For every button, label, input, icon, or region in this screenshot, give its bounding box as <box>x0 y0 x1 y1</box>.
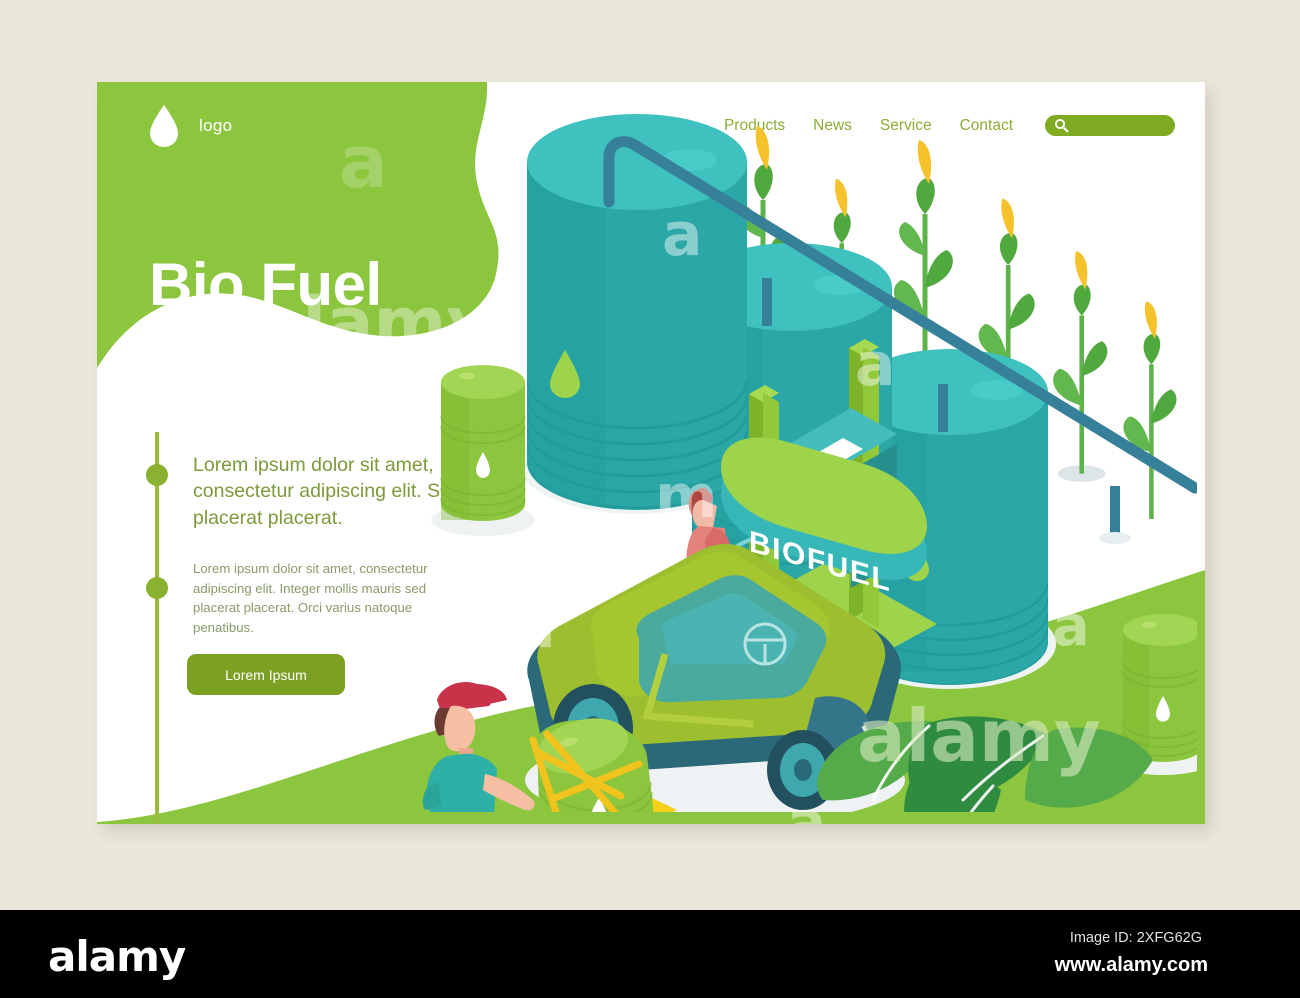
stock-footer-bar: alamy Image ID: 2XFG62G www.alamy.com <box>0 910 1300 998</box>
biofuel-illustration: BIOFUEL <box>397 112 1197 812</box>
water-drop-icon <box>147 104 181 148</box>
storage-tank-large <box>527 114 747 512</box>
image-id-label: Image ID: 2XFG62G <box>1070 930 1202 946</box>
timeline-rail <box>155 432 159 824</box>
timeline-dot-1 <box>146 464 168 486</box>
worker-figure <box>421 682 535 812</box>
fuel-barrel-left <box>431 365 535 536</box>
logo-label: logo <box>199 116 232 136</box>
page-title: Bio Fuel <box>149 255 382 315</box>
alamy-url: www.alamy.com <box>1055 954 1208 977</box>
screenshot-stage: logo Above Products News Service Contact… <box>0 0 1300 998</box>
alamy-wordmark: alamy <box>48 932 185 981</box>
brand-logo[interactable]: logo <box>147 104 232 148</box>
cta-button[interactable]: Lorem Ipsum <box>187 654 345 695</box>
landing-page-card: logo Above Products News Service Contact… <box>97 82 1205 824</box>
timeline-dot-2 <box>146 577 168 599</box>
